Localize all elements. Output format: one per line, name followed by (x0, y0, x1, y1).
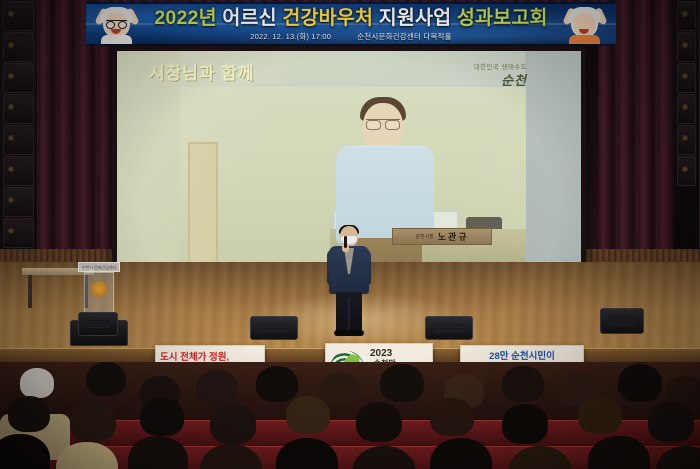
banner-title: 2022년 어르신 건강바우처 지원사업 성과보고회 (86, 7, 616, 29)
audience-head (648, 402, 694, 442)
city-logo-maintext: 순천 (474, 70, 527, 89)
banner-title-part-elder: 어르신 (222, 7, 276, 29)
presenter-figure (325, 226, 373, 338)
stage-monitor-speaker-1 (78, 312, 118, 336)
audience-head (618, 364, 662, 402)
audience-head (380, 364, 424, 402)
slide-caption: 시장님과 함께 (149, 59, 255, 84)
expo-year: 2023 (370, 348, 399, 359)
slide-nameplate: 순천시장 노관규 (392, 228, 492, 245)
audience-head (320, 372, 360, 406)
audience-head (196, 370, 238, 406)
stage-monitor-speaker-2 (250, 316, 298, 340)
nameplate-name: 노관규 (438, 230, 469, 243)
banner-place: 순천시문화건강센터 다목적홀 (357, 31, 452, 42)
audience-head (140, 398, 184, 436)
audience-head (20, 368, 54, 398)
podium-top: 순천시 문화건강센터 (78, 262, 120, 272)
banner-title-part-support: 지원사업 (379, 7, 452, 29)
suncheon-city-logo: 대한민국 생태수도 순천 (474, 61, 527, 89)
line-array-speaker-left (0, 0, 38, 272)
elderly-man-cartoon-icon (94, 5, 140, 46)
audience-head (8, 396, 50, 432)
audience-head (70, 402, 116, 442)
slide-right-strip (525, 51, 581, 263)
nameplate-title: 순천시장 (415, 233, 433, 240)
audience-head (430, 398, 474, 436)
banner-title-part-report: 성과보고회 (457, 7, 548, 29)
audience-head (210, 404, 256, 444)
stage-monitor-speaker-3 (425, 316, 473, 340)
event-photo-scene: 2022년 어르신 건강바우처 지원사업 성과보고회 2022. 12. 13.… (0, 0, 700, 469)
room-door (188, 142, 218, 263)
podium-plate-text: 순천시 문화건강센터 (82, 265, 116, 271)
banner-subtitle: 2022. 12. 13.(화) 17:00 순천시문화건강센터 다목적홀 (86, 31, 616, 42)
audience-head (356, 402, 402, 442)
audience-head (578, 396, 622, 434)
audience-area (0, 362, 700, 469)
banner-title-part-year: 2022년 (154, 7, 216, 29)
audience-head (502, 366, 544, 402)
banner-title-part-voucher: 건강바우처 (282, 7, 373, 29)
audience-head (256, 366, 298, 402)
line-array-speaker-right (674, 0, 700, 250)
event-title-banner: 2022년 어르신 건강바우처 지원사업 성과보고회 2022. 12. 13.… (86, 2, 616, 46)
stage-monitor-speaker-4 (600, 308, 644, 334)
elderly-woman-cartoon-icon (562, 5, 608, 46)
audience-head (502, 404, 548, 444)
banner-datetime: 2022. 12. 13.(화) 17:00 (250, 31, 331, 42)
audience-head (286, 396, 330, 434)
audience-head (86, 362, 126, 396)
city-emblem-icon (91, 281, 107, 297)
microphone-icon (344, 236, 347, 248)
